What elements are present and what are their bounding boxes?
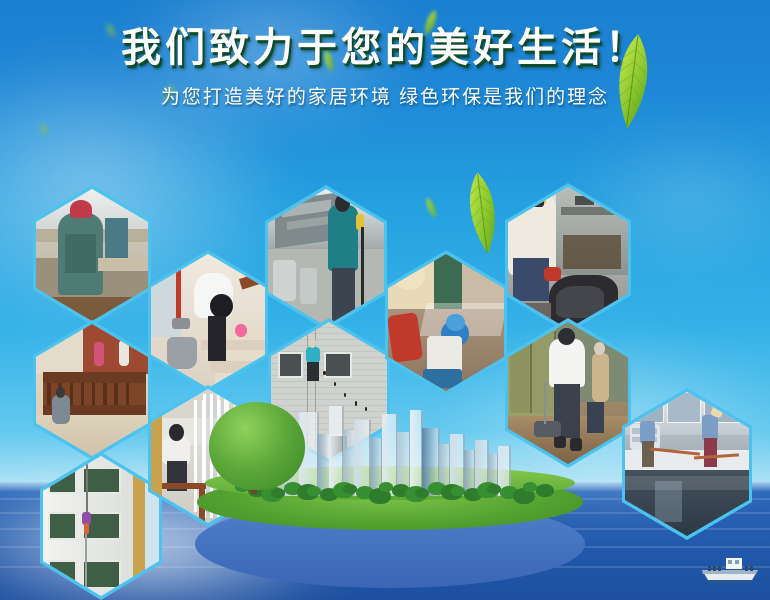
shrub — [523, 482, 537, 492]
promo-banner: 我们致力于您的美好生活！ 为您打造美好的家居环境 绿色环保是我们的理念 — [0, 0, 770, 600]
hex-railing-polish[interactable] — [33, 320, 151, 460]
shrub — [451, 486, 465, 496]
hex-stair-mopping[interactable] — [148, 250, 268, 392]
page-title: 我们致力于您的美好生活！ — [0, 26, 770, 70]
leaf-small-left-icon — [28, 118, 63, 146]
shrub — [415, 488, 429, 498]
shrub — [536, 484, 554, 497]
hex-carpet-machine[interactable] — [385, 250, 507, 395]
shrub — [487, 484, 501, 494]
leaf-mid-left-icon — [401, 187, 464, 233]
leaf-mid-center-icon — [457, 168, 507, 265]
small-boat-icon — [700, 556, 762, 586]
tree-crown — [209, 402, 305, 490]
eco-island-illustration — [175, 408, 595, 583]
shrub — [307, 486, 321, 496]
hex-demolition-worker[interactable] — [33, 185, 151, 325]
headline-block: 我们致力于您的美好生活！ 为您打造美好的家居环境 绿色环保是我们的理念 — [0, 26, 770, 109]
shrub — [271, 488, 285, 498]
page-subtitle: 为您打造美好的家居环境 绿色环保是我们的理念 — [0, 82, 770, 109]
hex-duct-cleaning[interactable] — [265, 185, 387, 330]
hex-hood-degrease[interactable] — [505, 183, 631, 333]
hex-photo — [268, 189, 384, 326]
hex-photo — [625, 392, 749, 536]
hex-photo — [388, 254, 504, 391]
hex-photo — [36, 189, 148, 321]
hex-photo — [43, 456, 159, 596]
hex-photo — [36, 324, 148, 456]
hex-photo — [151, 254, 265, 388]
shrub — [379, 482, 393, 492]
shrub — [343, 484, 357, 494]
hex-photo — [508, 187, 628, 329]
